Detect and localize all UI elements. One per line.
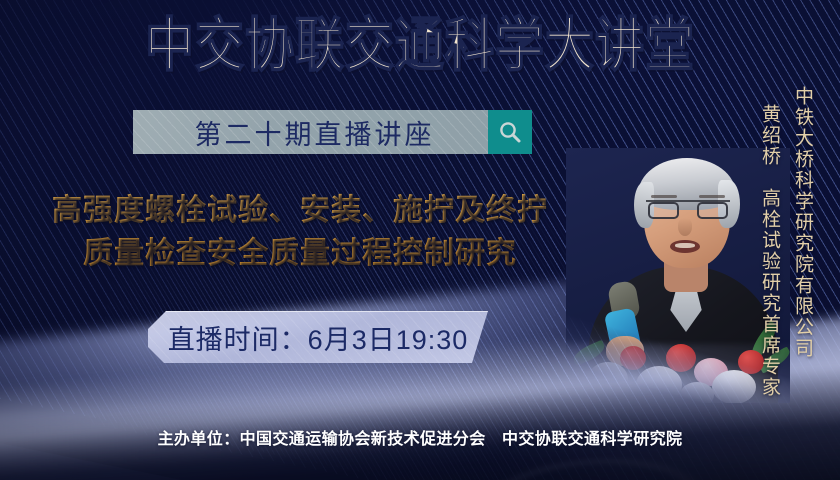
broadcast-time-text: 直播时间：6月3日19:30 [168, 318, 469, 357]
organizers-footer: 主办单位：中国交通运输协会新技术促进分会 中交协联交通科学研究院 [0, 425, 840, 449]
topic-line-2: 质量检查安全质量过程控制研究 [0, 233, 600, 276]
broadcast-time-badge: 直播时间：6月3日19:30 [148, 311, 488, 363]
subtitle-text: 第二十期直播讲座 [187, 113, 435, 152]
search-icon [497, 119, 523, 145]
photo-nose [678, 218, 692, 236]
glasses-icon [646, 200, 730, 219]
topic-line-1: 高强度螺栓试验、安装、施拧及终拧 [0, 190, 600, 233]
page-title: 中交协联交通科学大讲堂 [0, 18, 840, 76]
search-button[interactable] [488, 110, 532, 154]
speaker-name-title: 黄绍桥 高栓试验研究首席专家 [756, 104, 783, 398]
photo-mouth [670, 240, 700, 253]
lecture-topic: 高强度螺栓试验、安装、施拧及终拧 质量检查安全质量过程控制研究 [0, 190, 600, 275]
speaker-organization: 中铁大桥科学研究院有限公司 [789, 86, 816, 359]
live-lecture-poster: 中交协联交通科学大讲堂 第二十期直播讲座 高强度螺栓试验、安装、施拧及终拧 质量… [0, 0, 840, 480]
subtitle-banner: 第二十期直播讲座 [133, 110, 488, 154]
